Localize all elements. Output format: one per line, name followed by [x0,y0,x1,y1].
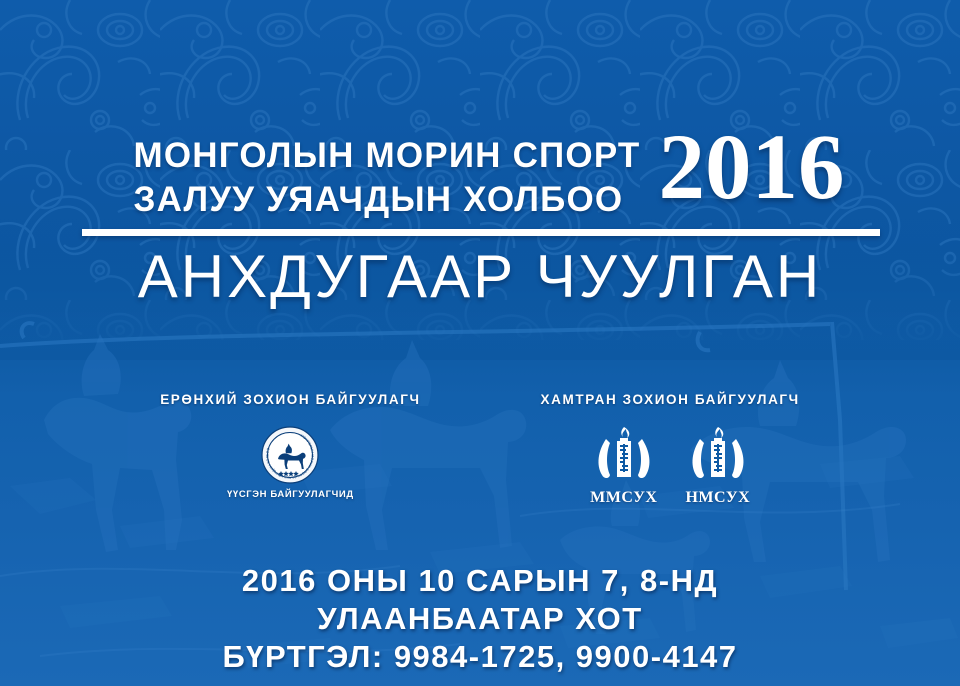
partner-logo-caption-nmsuh: НМСУХ [685,489,750,507]
header-divider [82,229,880,236]
poster-header: МОНГОЛЫН МОРИН СПОРТ ЗАЛУУ УЯАЧДЫН ХОЛБО… [0,128,960,222]
partner-organizer-block: ХАМТРАН ЗОХИОН БАЙГУУЛАГЧ [541,392,800,507]
event-date: 2016 ОНЫ 10 САРЫН 7, 8-НД [0,562,960,600]
event-registration-phones: БҮРТГЭЛ: 9984-1725, 9900-4147 [0,638,960,676]
partner-logo-unit-mmsuh: ММСУХ [590,425,657,507]
main-organizer-logo-unit: МОНГОЛЫН МОРИН СПОРТ ЗАЛУУ УЯАЧДЫН ХОЛБО… [227,425,354,500]
soyombo-script-emblem-icon [592,425,656,487]
horse-circle-emblem-icon: МОНГОЛЫН МОРИН СПОРТ ЗАЛУУ УЯАЧДЫН ХОЛБО… [252,425,328,485]
partner-logo-unit-nmsuh: НМСУХ [685,425,750,507]
organizers-section: ЕРӨНХИЙ ЗОХИОН БАЙГУУЛАГЧ МОНГОЛЫН МОРИН… [0,392,960,507]
event-details: 2016 ОНЫ 10 САРЫН 7, 8-НД УЛААНБААТАР ХО… [0,562,960,676]
page-title: АНХДУГААР ЧУУЛГАН [0,243,960,311]
soyombo-script-emblem-icon [686,425,750,487]
main-organizer-block: ЕРӨНХИЙ ЗОХИОН БАЙГУУЛАГЧ МОНГОЛЫН МОРИН… [160,392,420,507]
partner-logo-caption-mmsuh: ММСУХ [590,489,657,507]
organisation-name-line-2: ЗАЛУУ УЯАЧДЫН ХОЛБОО [133,178,640,222]
poster-content: МОНГОЛЫН МОРИН СПОРТ ЗАЛУУ УЯАЧДЫН ХОЛБО… [0,0,960,686]
event-year: 2016 [659,120,845,216]
organisation-name: МОНГОЛЫН МОРИН СПОРТ ЗАЛУУ УЯАЧДЫН ХОЛБО… [133,128,640,222]
event-city: УЛААНБААТАР ХОТ [0,600,960,638]
main-organizer-logo-caption: ҮҮСГЭН БАЙГУУЛАГЧИД [227,489,354,500]
event-poster: МОНГОЛЫН МОРИН СПОРТ ЗАЛУУ УЯАЧДЫН ХОЛБО… [0,0,960,686]
partner-organizer-heading: ХАМТРАН ЗОХИОН БАЙГУУЛАГЧ [541,392,800,407]
main-organizer-heading: ЕРӨНХИЙ ЗОХИОН БАЙГУУЛАГЧ [160,392,420,407]
organisation-name-line-1: МОНГОЛЫН МОРИН СПОРТ [133,134,640,178]
